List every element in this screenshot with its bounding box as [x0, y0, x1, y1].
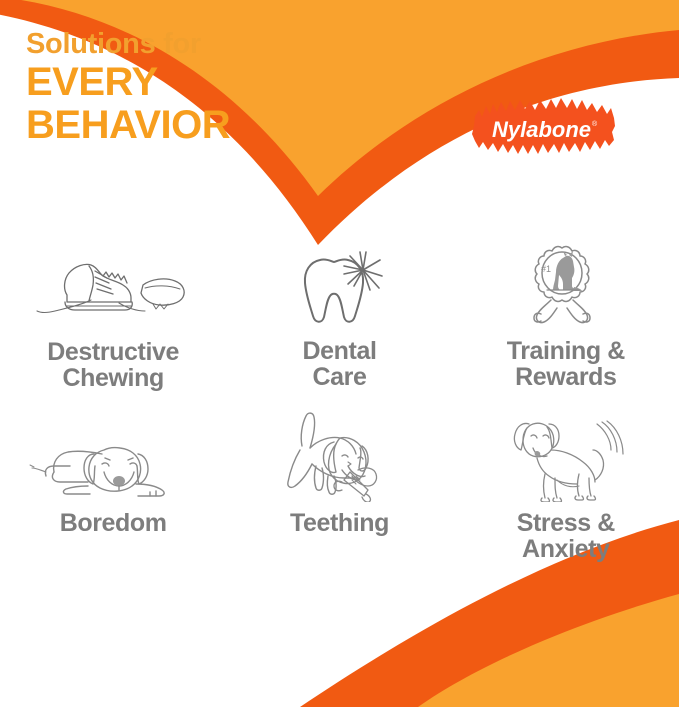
- category-teething[interactable]: Teething: [226, 410, 452, 585]
- category-training-rewards[interactable]: #1 Training & Rewards: [453, 245, 679, 410]
- nylabone-logo: Nylabone ®: [468, 92, 618, 164]
- headline-line-3: BEHAVIOR: [26, 105, 230, 145]
- headline-line-1: Solutions for: [26, 30, 230, 59]
- page-headline: Solutions for EVERY BEHAVIOR: [26, 30, 230, 145]
- lying-down-dog-icon: [26, 410, 201, 502]
- trademark-symbol: ®: [592, 120, 598, 128]
- category-label: Dental Care: [302, 338, 376, 391]
- sparkling-tooth-icon: [284, 245, 394, 330]
- rank-badge-text: #1: [541, 264, 551, 274]
- category-label: Training & Rewards: [507, 338, 625, 391]
- anxious-dog-icon: [501, 410, 631, 502]
- category-label: Stress & Anxiety: [517, 510, 615, 563]
- nylabone-behavior-infographic: Solutions for EVERY BEHAVIOR Nylabone ®: [0, 0, 679, 707]
- category-destructive-chewing[interactable]: Destructive Chewing: [0, 245, 226, 410]
- category-label: Destructive Chewing: [47, 339, 179, 392]
- chewed-shoe-icon: [33, 245, 193, 331]
- category-boredom[interactable]: Boredom: [0, 410, 226, 585]
- category-label: Boredom: [60, 510, 167, 536]
- award-rosette-dog-icon: #1: [511, 245, 621, 330]
- category-stress-anxiety[interactable]: Stress & Anxiety: [453, 410, 679, 585]
- headline-line-2: EVERY: [26, 62, 230, 102]
- bottom-swoosh-light: [418, 594, 679, 707]
- category-dental-care[interactable]: Dental Care: [226, 245, 452, 410]
- category-label: Teething: [290, 510, 389, 536]
- behavior-category-grid: Destructive Chewing: [0, 245, 679, 585]
- bone-brushstroke-logo-icon: Nylabone ®: [468, 92, 618, 164]
- shake-motion-lines: [597, 421, 623, 454]
- brand-wordmark: Nylabone: [492, 117, 591, 142]
- puppy-with-chew-toy-icon: [272, 410, 407, 502]
